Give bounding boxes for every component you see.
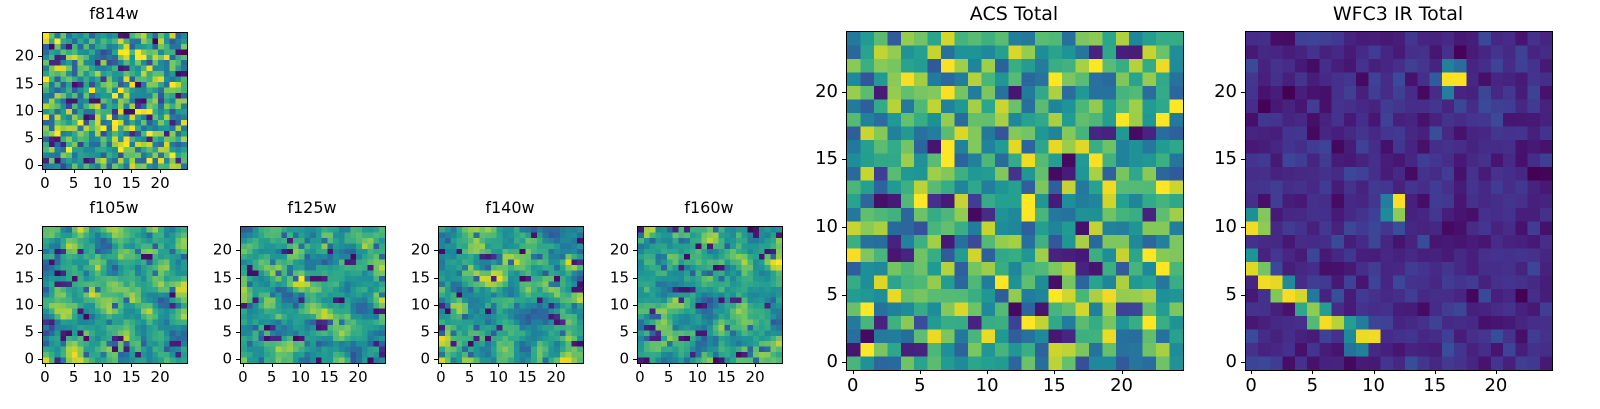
heatmap-f160w[interactable]: [637, 226, 783, 364]
x-tick-mark: [853, 370, 854, 374]
y-tick-mark: [236, 332, 240, 333]
panel-f160w: f160w0055101015152020: [593, 200, 781, 402]
y-tick-mark: [633, 250, 637, 251]
y-tick-label: 0: [1201, 353, 1237, 371]
y-tick-label: 10: [196, 297, 232, 312]
y-tick-mark: [842, 295, 846, 296]
x-tick-label: 20: [1484, 377, 1507, 395]
y-tick-label: 5: [196, 325, 232, 340]
x-tick-label: 15: [122, 370, 141, 385]
y-tick-label: 15: [802, 150, 838, 168]
x-tick-mark: [102, 363, 103, 367]
y-tick-label: 20: [394, 243, 430, 258]
x-tick-label: 10: [688, 370, 707, 385]
y-tick-label: 10: [802, 218, 838, 236]
heatmap-canvas-f140w: [439, 227, 583, 363]
x-tick-mark: [640, 363, 641, 367]
heatmap-canvas-f814w: [43, 33, 187, 169]
panel-title-f125w: f125w: [240, 200, 384, 216]
x-tick-label: 0: [1245, 377, 1256, 395]
x-tick-label: 15: [717, 370, 736, 385]
heatmap-wfc3-ir-total[interactable]: [1245, 31, 1553, 371]
y-tick-label: 15: [196, 270, 232, 285]
y-tick-mark: [434, 278, 438, 279]
y-tick-mark: [434, 332, 438, 333]
x-tick-label: 10: [93, 370, 112, 385]
heatmap-f125w[interactable]: [240, 226, 386, 364]
x-tick-mark: [987, 370, 988, 374]
y-tick-label: 0: [0, 158, 34, 173]
x-tick-label: 10: [291, 370, 310, 385]
x-tick-label: 20: [1110, 377, 1133, 395]
y-tick-label: 10: [0, 297, 34, 312]
y-tick-label: 10: [593, 297, 629, 312]
x-tick-label: 0: [238, 370, 248, 385]
x-tick-mark: [74, 363, 75, 367]
x-tick-mark: [272, 363, 273, 367]
x-tick-mark: [726, 363, 727, 367]
y-tick-label: 15: [0, 76, 34, 91]
x-tick-label: 0: [635, 370, 645, 385]
x-tick-label: 5: [914, 377, 925, 395]
heatmap-canvas-f125w: [241, 227, 385, 363]
y-tick-label: 5: [0, 131, 34, 146]
y-tick-label: 10: [1201, 218, 1237, 236]
y-tick-mark: [1241, 362, 1245, 363]
y-tick-label: 10: [394, 297, 430, 312]
y-tick-label: 10: [0, 103, 34, 118]
x-tick-label: 20: [349, 370, 368, 385]
x-tick-mark: [920, 370, 921, 374]
panel-title-f160w: f160w: [637, 200, 781, 216]
heatmap-f140w[interactable]: [438, 226, 584, 364]
panel-f140w: f140w0055101015152020: [394, 200, 582, 402]
x-tick-label: 10: [489, 370, 508, 385]
y-tick-mark: [1241, 227, 1245, 228]
y-tick-mark: [434, 359, 438, 360]
y-tick-mark: [236, 359, 240, 360]
y-tick-label: 5: [1201, 286, 1237, 304]
x-tick-mark: [160, 363, 161, 367]
y-tick-label: 5: [802, 286, 838, 304]
x-tick-mark: [300, 363, 301, 367]
x-tick-label: 20: [746, 370, 765, 385]
x-tick-label: 15: [1423, 377, 1446, 395]
y-tick-mark: [236, 250, 240, 251]
panel-wfc3-ir-total: WFC3 IR Total0055101015152020: [1201, 5, 1551, 409]
panel-acs-total: ACS Total0055101015152020: [802, 5, 1182, 409]
panel-f125w: f125w0055101015152020: [196, 200, 384, 402]
y-tick-mark: [38, 56, 42, 57]
panel-f105w: f105w0055101015152020: [0, 200, 186, 402]
y-tick-label: 20: [196, 243, 232, 258]
x-tick-label: 5: [664, 370, 674, 385]
panel-f814w: f814w0055101015152020: [0, 6, 186, 208]
x-tick-mark: [470, 363, 471, 367]
x-tick-mark: [160, 169, 161, 173]
y-tick-label: 5: [0, 325, 34, 340]
x-tick-label: 10: [1362, 377, 1385, 395]
x-tick-label: 5: [267, 370, 277, 385]
x-tick-mark: [1122, 370, 1123, 374]
heatmap-canvas-f160w: [638, 227, 782, 363]
x-tick-label: 15: [122, 176, 141, 191]
y-tick-mark: [236, 305, 240, 306]
y-tick-mark: [842, 227, 846, 228]
x-tick-mark: [243, 363, 244, 367]
y-tick-mark: [38, 278, 42, 279]
heatmap-acs-total[interactable]: [846, 31, 1184, 371]
x-tick-label: 5: [69, 176, 79, 191]
y-tick-mark: [38, 138, 42, 139]
heatmap-f814w[interactable]: [42, 32, 188, 170]
x-tick-mark: [441, 363, 442, 367]
x-tick-label: 5: [465, 370, 475, 385]
y-tick-label: 20: [593, 243, 629, 258]
y-tick-label: 5: [394, 325, 430, 340]
x-tick-mark: [131, 169, 132, 173]
y-tick-mark: [842, 159, 846, 160]
y-tick-mark: [38, 111, 42, 112]
y-tick-label: 0: [394, 352, 430, 367]
x-tick-mark: [1496, 370, 1497, 374]
x-tick-mark: [74, 169, 75, 173]
x-tick-mark: [1054, 370, 1055, 374]
y-tick-label: 0: [593, 352, 629, 367]
y-tick-label: 20: [0, 243, 34, 258]
y-tick-mark: [842, 92, 846, 93]
y-tick-mark: [633, 278, 637, 279]
y-tick-mark: [38, 165, 42, 166]
x-tick-mark: [498, 363, 499, 367]
x-tick-mark: [669, 363, 670, 367]
x-tick-mark: [1374, 370, 1375, 374]
x-tick-mark: [697, 363, 698, 367]
x-tick-label: 20: [151, 370, 170, 385]
y-tick-label: 15: [394, 270, 430, 285]
y-tick-label: 0: [196, 352, 232, 367]
y-tick-mark: [38, 332, 42, 333]
y-tick-mark: [236, 278, 240, 279]
y-tick-mark: [633, 359, 637, 360]
x-tick-label: 15: [320, 370, 339, 385]
x-tick-mark: [45, 169, 46, 173]
x-tick-label: 15: [518, 370, 537, 385]
x-tick-mark: [755, 363, 756, 367]
y-tick-mark: [633, 332, 637, 333]
heatmap-canvas-acs-total: [847, 32, 1183, 370]
y-tick-mark: [38, 305, 42, 306]
x-tick-label: 5: [1307, 377, 1318, 395]
x-tick-label: 0: [436, 370, 446, 385]
y-tick-mark: [633, 305, 637, 306]
panel-title-wfc3-ir-total: WFC3 IR Total: [1245, 5, 1551, 24]
x-tick-mark: [1251, 370, 1252, 374]
panel-title-f814w: f814w: [42, 6, 186, 22]
x-tick-label: 15: [1043, 377, 1066, 395]
y-tick-mark: [842, 362, 846, 363]
x-tick-mark: [556, 363, 557, 367]
y-tick-label: 15: [0, 270, 34, 285]
y-tick-mark: [38, 359, 42, 360]
y-tick-label: 5: [593, 325, 629, 340]
y-tick-mark: [434, 250, 438, 251]
x-tick-mark: [1312, 370, 1313, 374]
panel-title-acs-total: ACS Total: [846, 5, 1182, 24]
x-tick-mark: [102, 169, 103, 173]
y-tick-label: 15: [593, 270, 629, 285]
x-tick-label: 5: [69, 370, 79, 385]
y-tick-label: 0: [802, 353, 838, 371]
x-tick-mark: [329, 363, 330, 367]
x-tick-mark: [527, 363, 528, 367]
y-tick-mark: [1241, 92, 1245, 93]
heatmap-f105w[interactable]: [42, 226, 188, 364]
x-tick-label: 0: [40, 176, 50, 191]
x-tick-label: 10: [93, 176, 112, 191]
y-tick-mark: [38, 84, 42, 85]
x-tick-label: 20: [151, 176, 170, 191]
y-tick-mark: [1241, 295, 1245, 296]
panel-title-f140w: f140w: [438, 200, 582, 216]
y-tick-mark: [434, 305, 438, 306]
heatmap-canvas-wfc3-ir-total: [1246, 32, 1552, 370]
x-tick-mark: [131, 363, 132, 367]
heatmap-canvas-f105w: [43, 227, 187, 363]
y-tick-label: 15: [1201, 150, 1237, 168]
x-tick-mark: [45, 363, 46, 367]
x-tick-mark: [358, 363, 359, 367]
panel-title-f105w: f105w: [42, 200, 186, 216]
y-tick-mark: [1241, 159, 1245, 160]
x-tick-label: 0: [847, 377, 858, 395]
y-tick-label: 20: [0, 49, 34, 64]
x-tick-label: 10: [976, 377, 999, 395]
y-tick-mark: [38, 250, 42, 251]
x-tick-mark: [1435, 370, 1436, 374]
x-tick-label: 0: [40, 370, 50, 385]
y-tick-label: 20: [802, 83, 838, 101]
x-tick-label: 20: [547, 370, 566, 385]
y-tick-label: 0: [0, 352, 34, 367]
y-tick-label: 20: [1201, 83, 1237, 101]
